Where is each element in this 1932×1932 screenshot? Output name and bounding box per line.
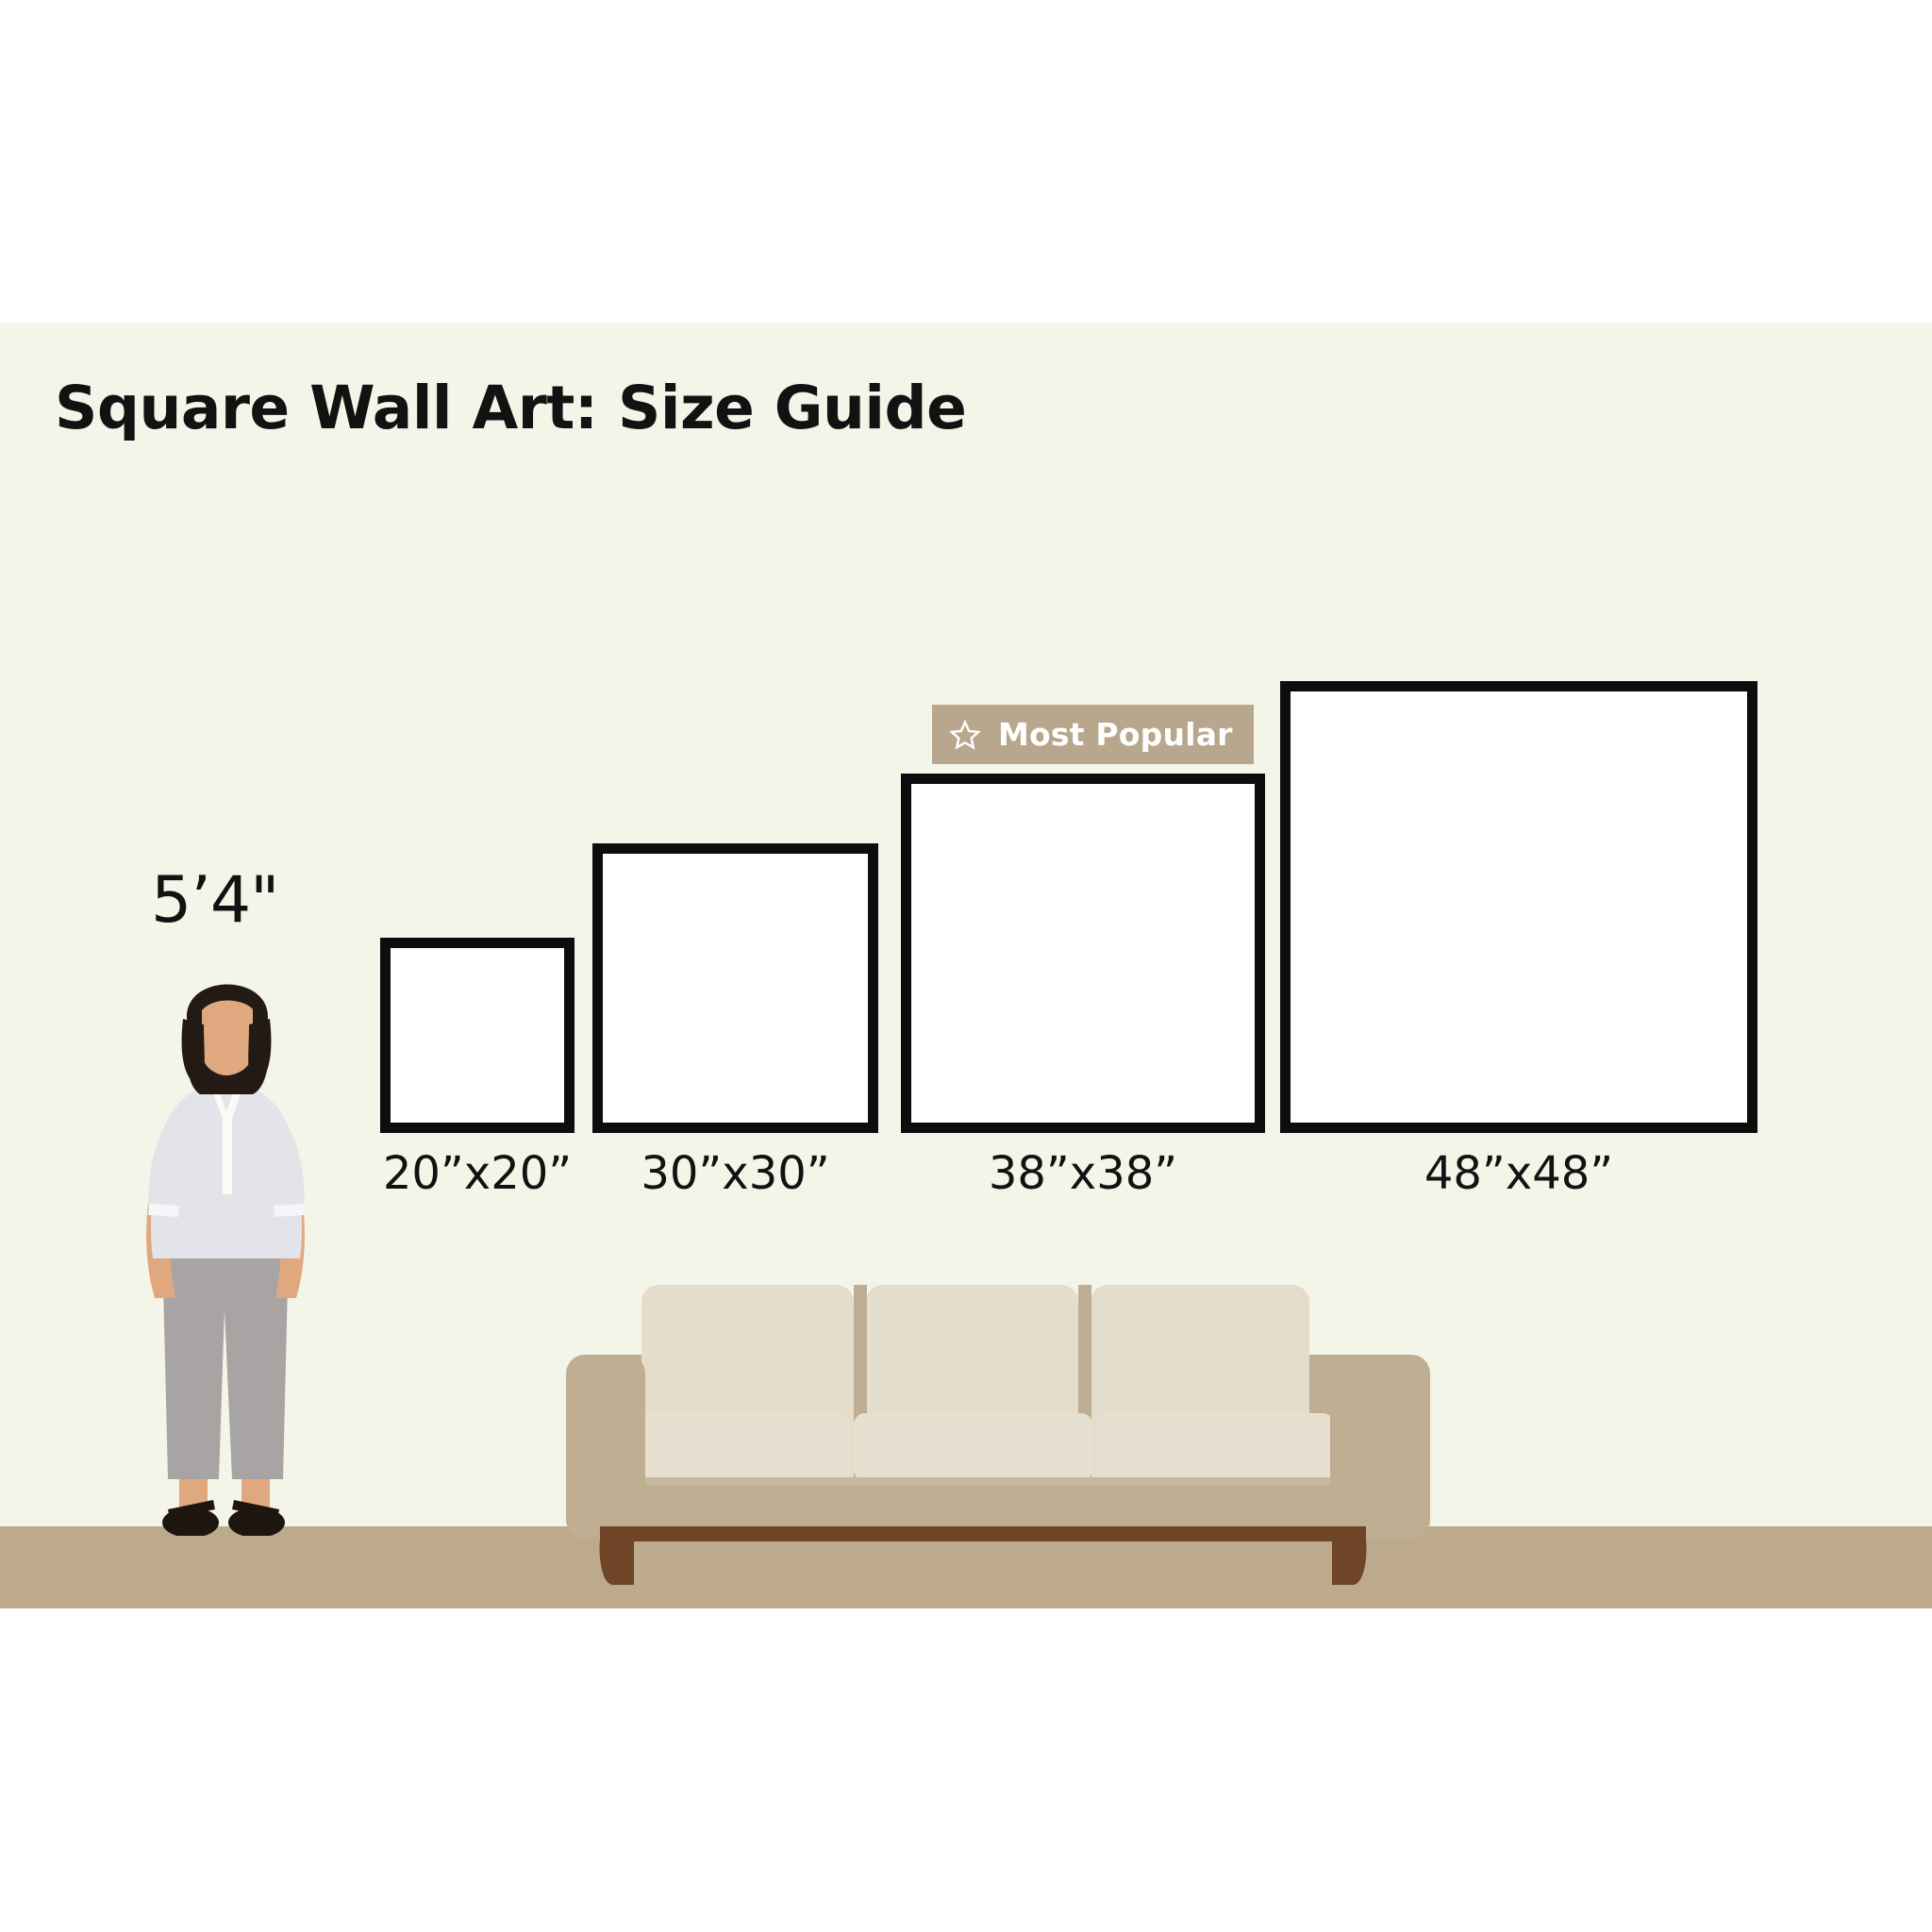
person-figure — [121, 970, 332, 1536]
most-popular-badge: Most Popular — [932, 705, 1254, 764]
frame-20x20[interactable] — [380, 938, 575, 1133]
frame-label-30x30: 30”x30” — [592, 1147, 878, 1200]
sofa-illustration — [566, 1274, 1434, 1613]
sofa — [566, 1274, 1434, 1613]
frame-38x38[interactable] — [901, 774, 1265, 1133]
size-guide-illustration: Square Wall Art: Size Guide 5’4" — [0, 0, 1932, 1932]
page-title: Square Wall Art: Size Guide — [55, 374, 966, 442]
most-popular-badge-label: Most Popular — [998, 716, 1233, 753]
person-height-label: 5’4" — [151, 863, 278, 938]
frame-label-48x48: 48”x48” — [1280, 1147, 1757, 1200]
frame-30x30[interactable] — [592, 843, 878, 1133]
star-icon — [949, 719, 981, 751]
frame-48x48[interactable] — [1280, 681, 1757, 1133]
frame-label-20x20: 20”x20” — [380, 1147, 575, 1200]
person-illustration — [121, 970, 332, 1536]
frame-label-38x38: 38”x38” — [901, 1147, 1265, 1200]
